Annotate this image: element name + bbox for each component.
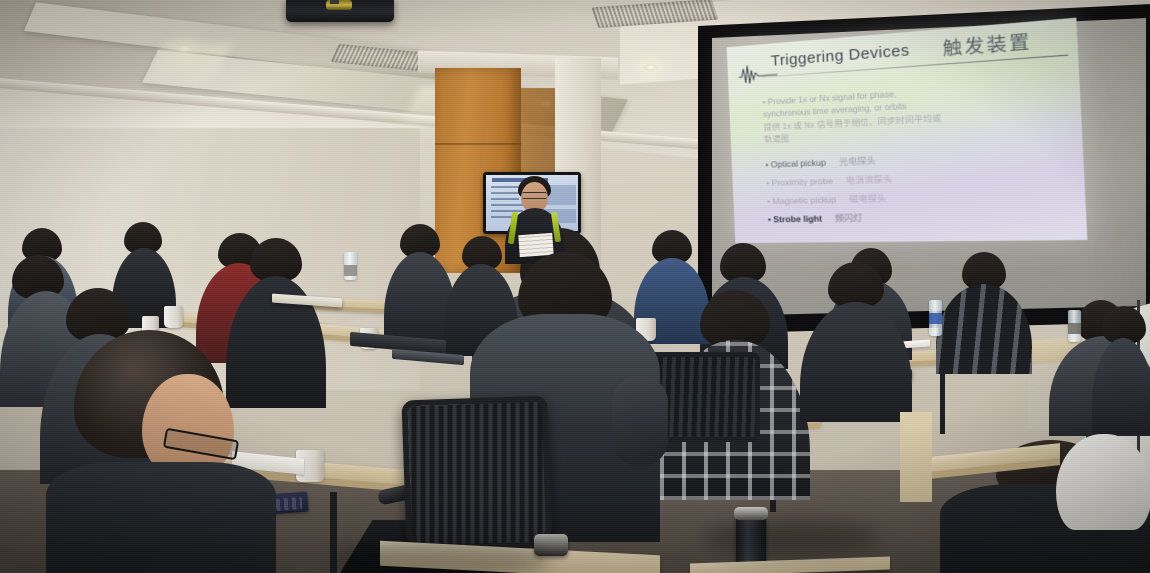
bullet-magnetic-pickup-cn: 磁电探头 xyxy=(849,193,887,204)
attendee-glasses-foreground xyxy=(46,330,276,573)
desk-leg xyxy=(940,364,945,434)
attendee-torso xyxy=(800,302,912,422)
desk-modesty-panel xyxy=(900,412,932,502)
attendee xyxy=(800,262,912,412)
bullet-strobe-light-cn: 频闪灯 xyxy=(835,212,863,223)
ceiling-projector xyxy=(286,0,394,22)
bullet-optical-pickup-en: • Optical pickup xyxy=(765,157,826,170)
bullet-proximity-probe-en: • Proximity probe xyxy=(766,175,833,187)
bullet-strobe-light-en: • Strobe light xyxy=(768,213,823,224)
bottle-label xyxy=(1068,323,1081,334)
attendee-torso xyxy=(46,462,276,573)
classroom-photo: Triggering Devices 触发装置 • Provide 1x or … xyxy=(0,0,1150,573)
presenter-glasses-icon xyxy=(522,192,547,199)
paper-cup[interactable] xyxy=(164,306,183,328)
floor-shadow xyxy=(330,540,550,573)
attendee-torso xyxy=(1092,338,1150,434)
bullet-magnetic-pickup-en: • Magnetic pickup xyxy=(767,194,837,206)
thermos-cap xyxy=(734,507,768,520)
attendee xyxy=(1096,306,1150,426)
wood-panel-seam xyxy=(435,143,521,145)
presenter xyxy=(505,176,565,260)
projected-slide: Triggering Devices 触发装置 • Provide 1x or … xyxy=(727,18,1088,243)
slide-title: Triggering Devices xyxy=(770,41,910,69)
attendee-collar xyxy=(1056,434,1150,530)
mesh-office-chair[interactable] xyxy=(401,395,552,552)
bottle-label xyxy=(929,313,942,324)
slide-title-chinese: 触发装置 xyxy=(942,26,1033,60)
floor-shadow xyxy=(700,520,880,556)
slide-bullet-list: • Provide 1x or Nx signal for phase, syn… xyxy=(762,64,1077,229)
water-bottle[interactable] xyxy=(1068,310,1081,342)
bullet-proximity-probe-cn: 电涡流探头 xyxy=(846,173,893,185)
projector-mount xyxy=(330,0,339,4)
water-bottle[interactable] xyxy=(929,300,942,336)
attendee xyxy=(936,252,1032,370)
water-bottle[interactable] xyxy=(344,252,357,280)
bottle-label xyxy=(344,265,357,276)
attendee-torso xyxy=(936,284,1032,374)
bullet-optical-pickup-cn: 光电探头 xyxy=(839,155,876,167)
attendee-arm xyxy=(612,376,668,466)
recessed-downlight xyxy=(644,64,657,71)
